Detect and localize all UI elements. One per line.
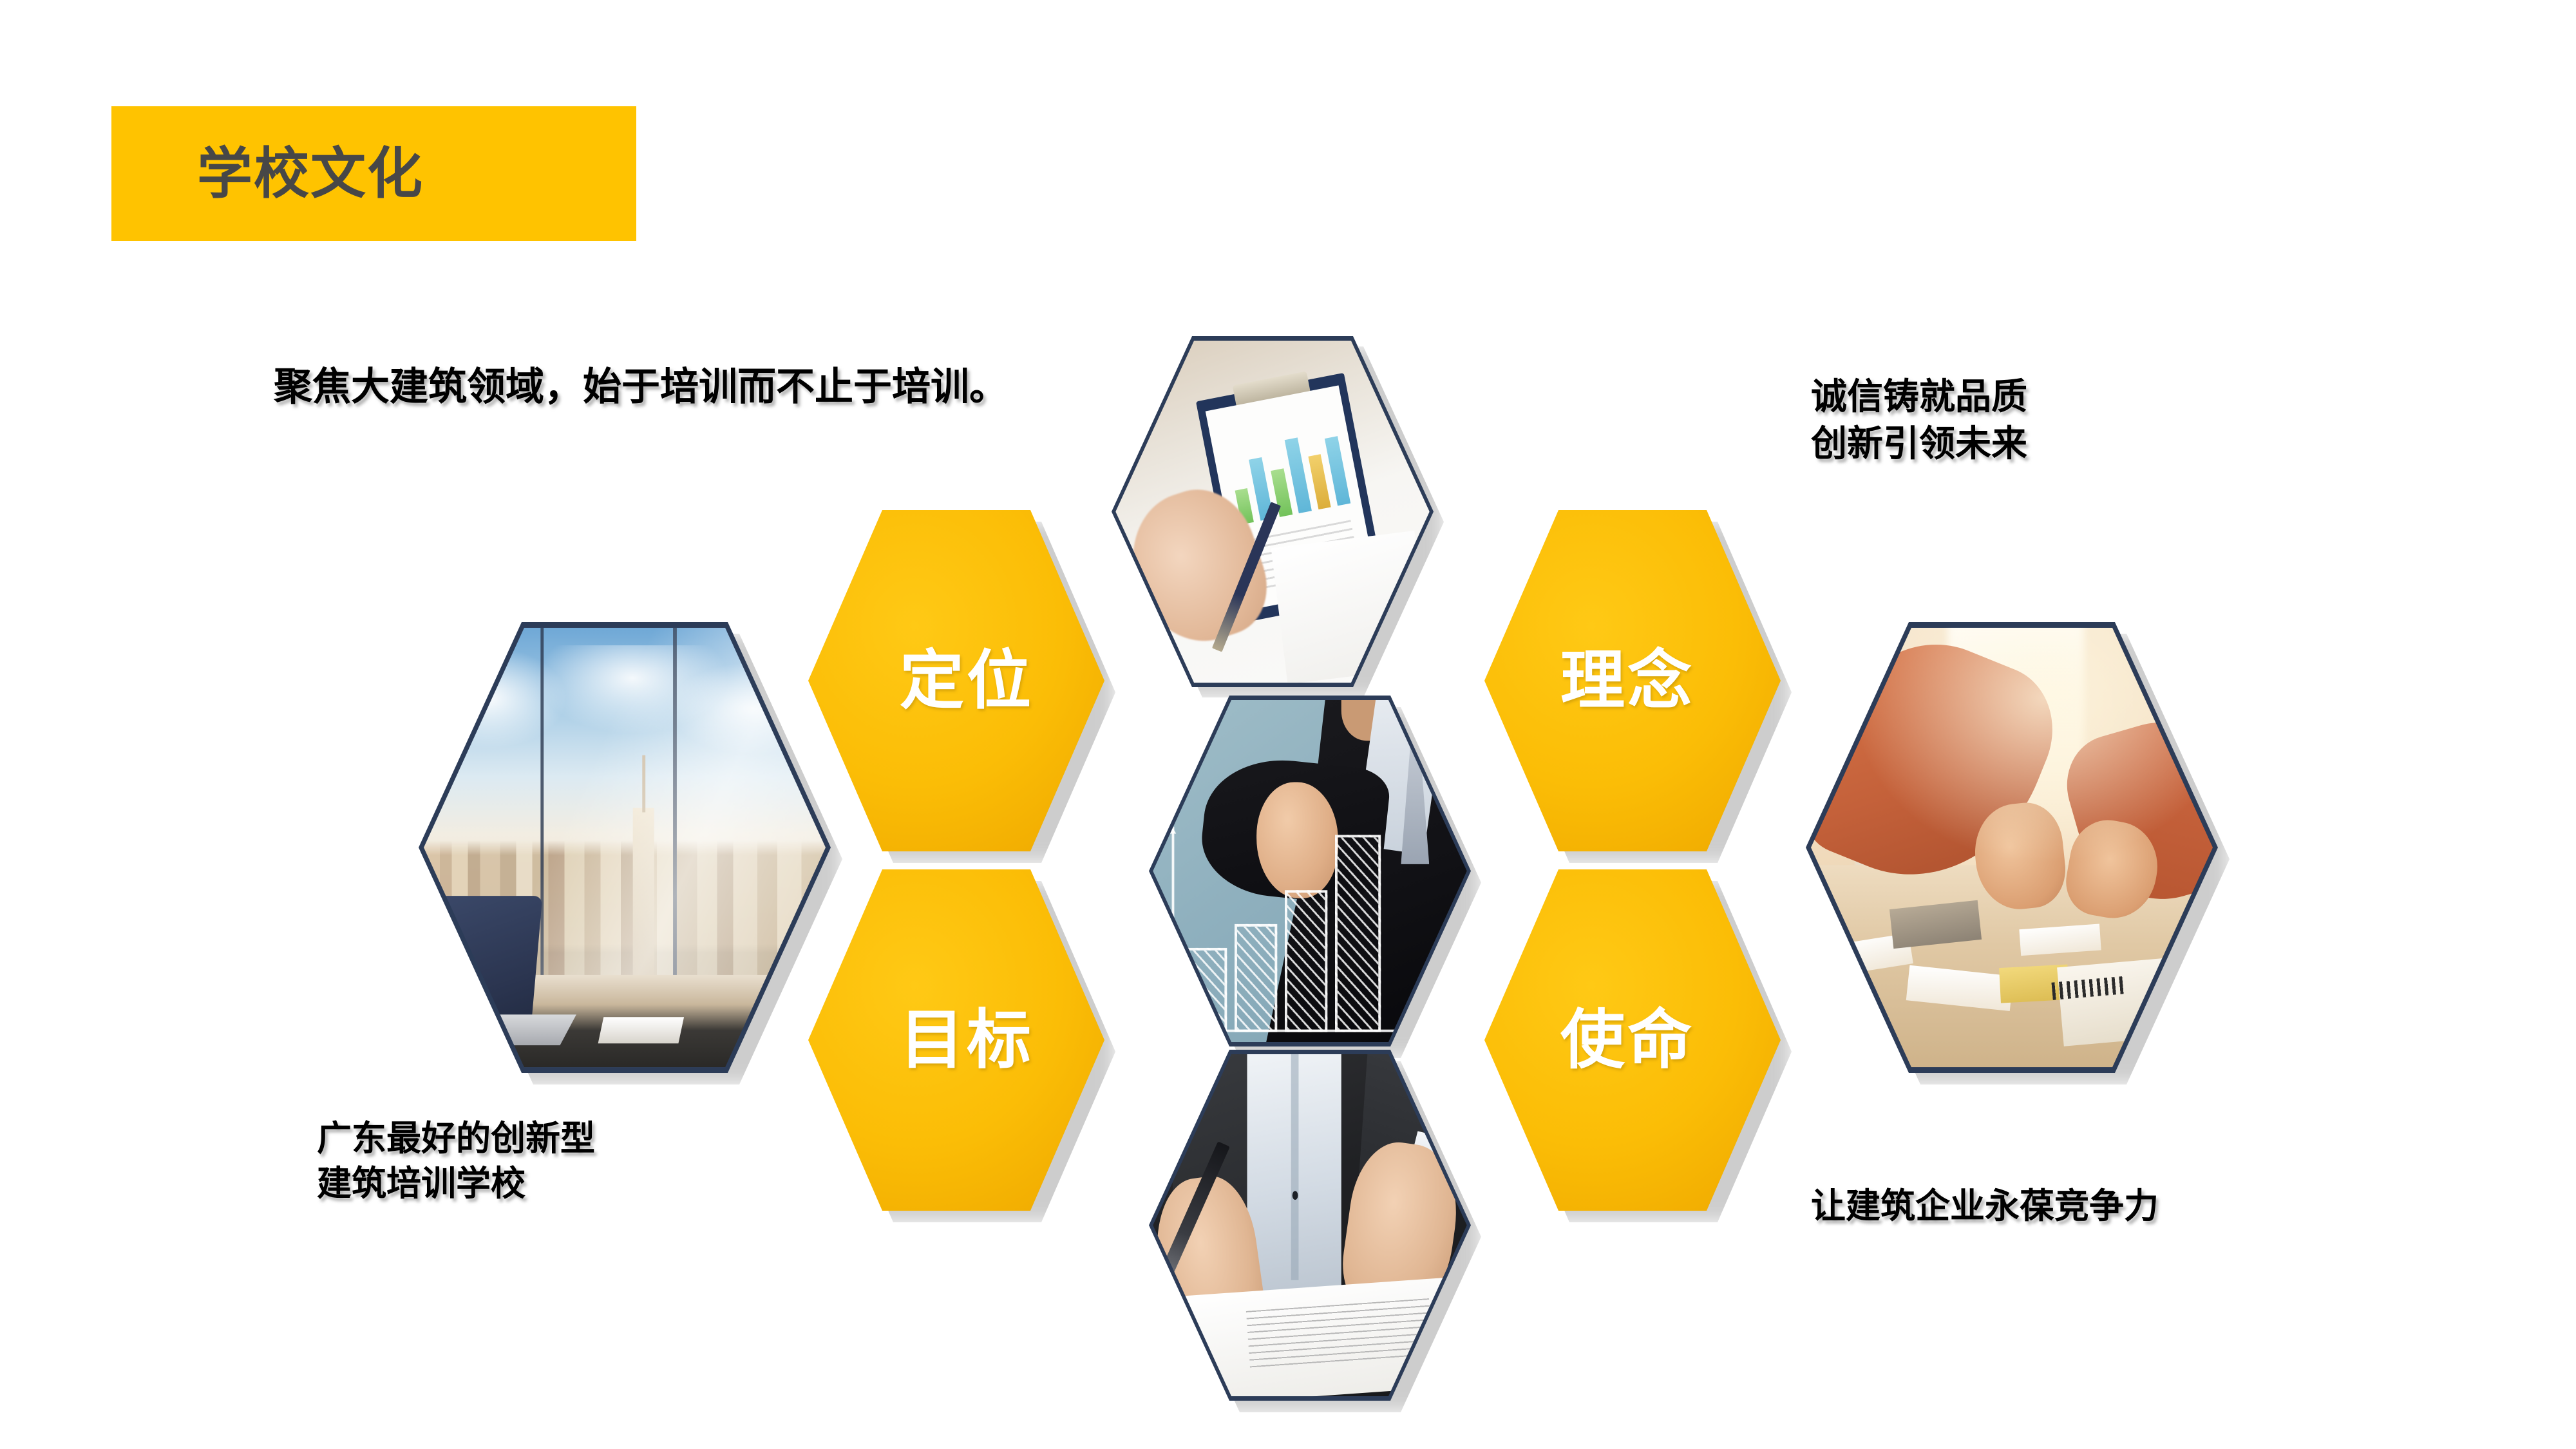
caption-positioning: 聚焦大建筑领域，始于培训而不止于培训。: [274, 362, 1130, 412]
hex-label-position: 定位: [900, 649, 1034, 713]
honeycomb-diagram: 定位 目标: [0, 0, 2576, 1449]
caption-mission: 让建筑企业永葆竞争力: [1811, 1184, 2159, 1229]
hex-label-philosophy: 理念: [1560, 649, 1694, 713]
hex-label-goal: 目标: [900, 1008, 1034, 1072]
caption-goal: 广东最好的创新型 建筑培训学校: [317, 1116, 595, 1206]
caption-philosophy: 诚信铸就品质 创新引领未来: [1811, 374, 2027, 468]
hex-label-mission: 使命: [1560, 1008, 1694, 1072]
